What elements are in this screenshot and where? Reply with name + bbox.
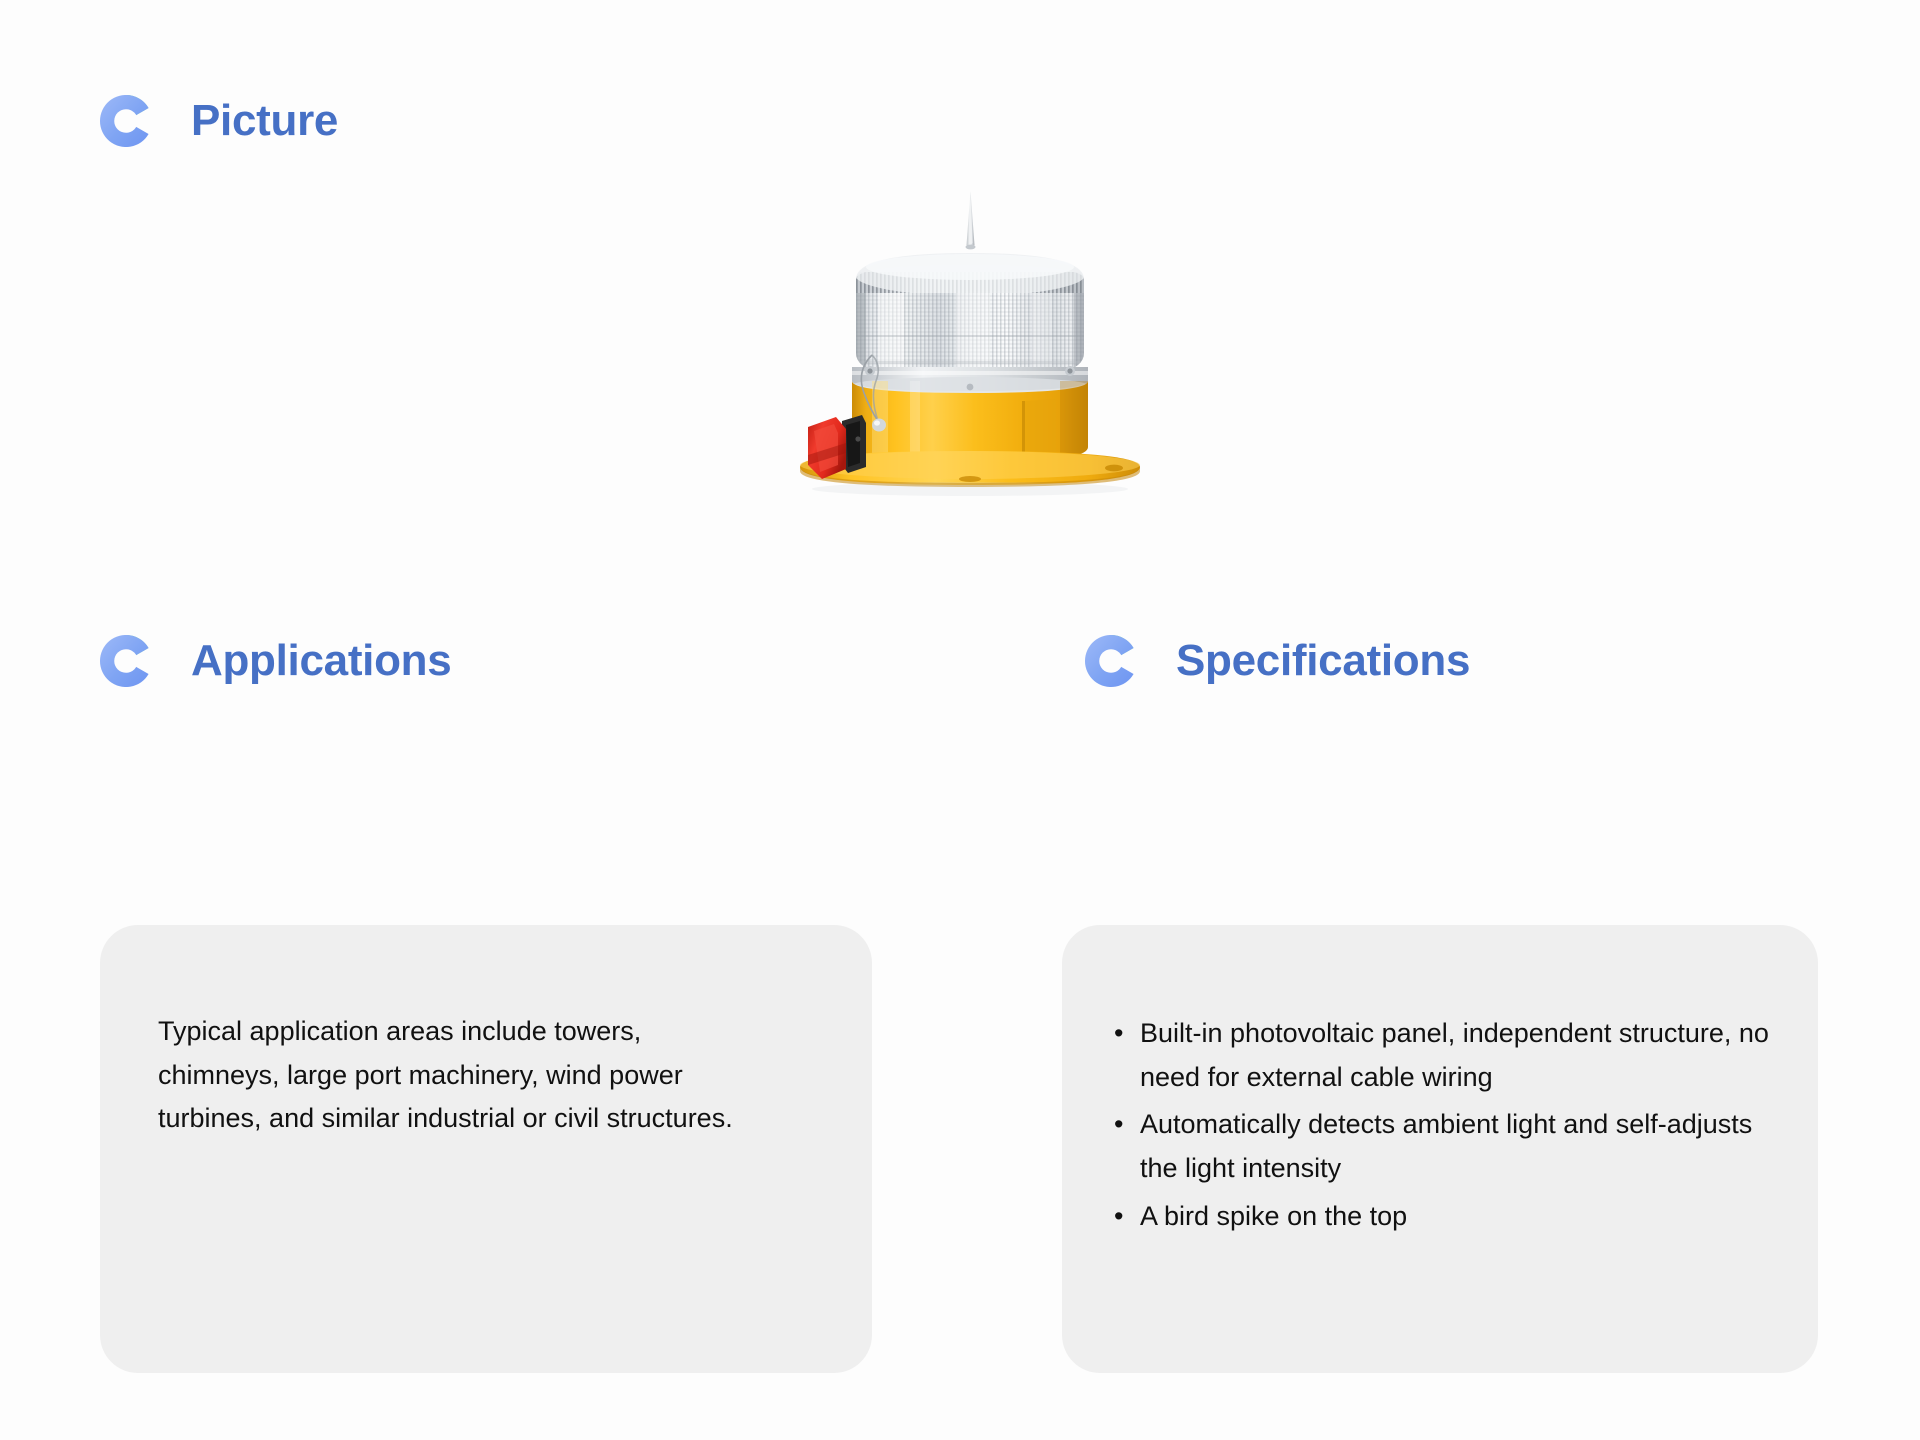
product-sheet-page: Picture [0,0,1920,1440]
c-ring-logo-icon [1080,630,1142,692]
section-header-applications: Applications [95,630,451,692]
red-switch-lever [808,417,846,479]
applications-paragraph: Typical application areas include towers… [158,1010,758,1141]
list-item: • Automatically detects ambient light an… [1092,1103,1782,1190]
product-image-container [760,185,1180,515]
section-title-picture: Picture [191,99,338,143]
lens-dome [850,253,1090,393]
bullet-glyph: • [1114,1195,1123,1239]
section-header-picture: Picture [95,90,338,152]
bird-spike-icon [966,191,976,249]
specifications-list: • Built-in photovoltaic panel, independe… [1092,1012,1782,1243]
cable-end-ferrule [872,419,886,432]
bullet-glyph: • [1114,1103,1123,1147]
bullet-glyph: • [1114,1012,1123,1056]
list-item: • A bird spike on the top [1092,1195,1782,1239]
applications-card: Typical application areas include towers… [100,925,872,1373]
specifications-card: • Built-in photovoltaic panel, independe… [1062,925,1818,1373]
c-ring-logo-icon [95,90,157,152]
list-item-text: A bird spike on the top [1140,1201,1407,1231]
section-title-specifications: Specifications [1176,639,1470,683]
section-title-applications: Applications [191,639,451,683]
section-header-specifications: Specifications [1080,630,1470,692]
c-ring-logo-icon [95,630,157,692]
list-item-text: Built-in photovoltaic panel, independent… [1140,1018,1769,1092]
list-item-text: Automatically detects ambient light and … [1140,1109,1752,1183]
list-item: • Built-in photovoltaic panel, independe… [1092,1012,1782,1099]
solar-aviation-obstruction-light-illustration [760,185,1180,515]
